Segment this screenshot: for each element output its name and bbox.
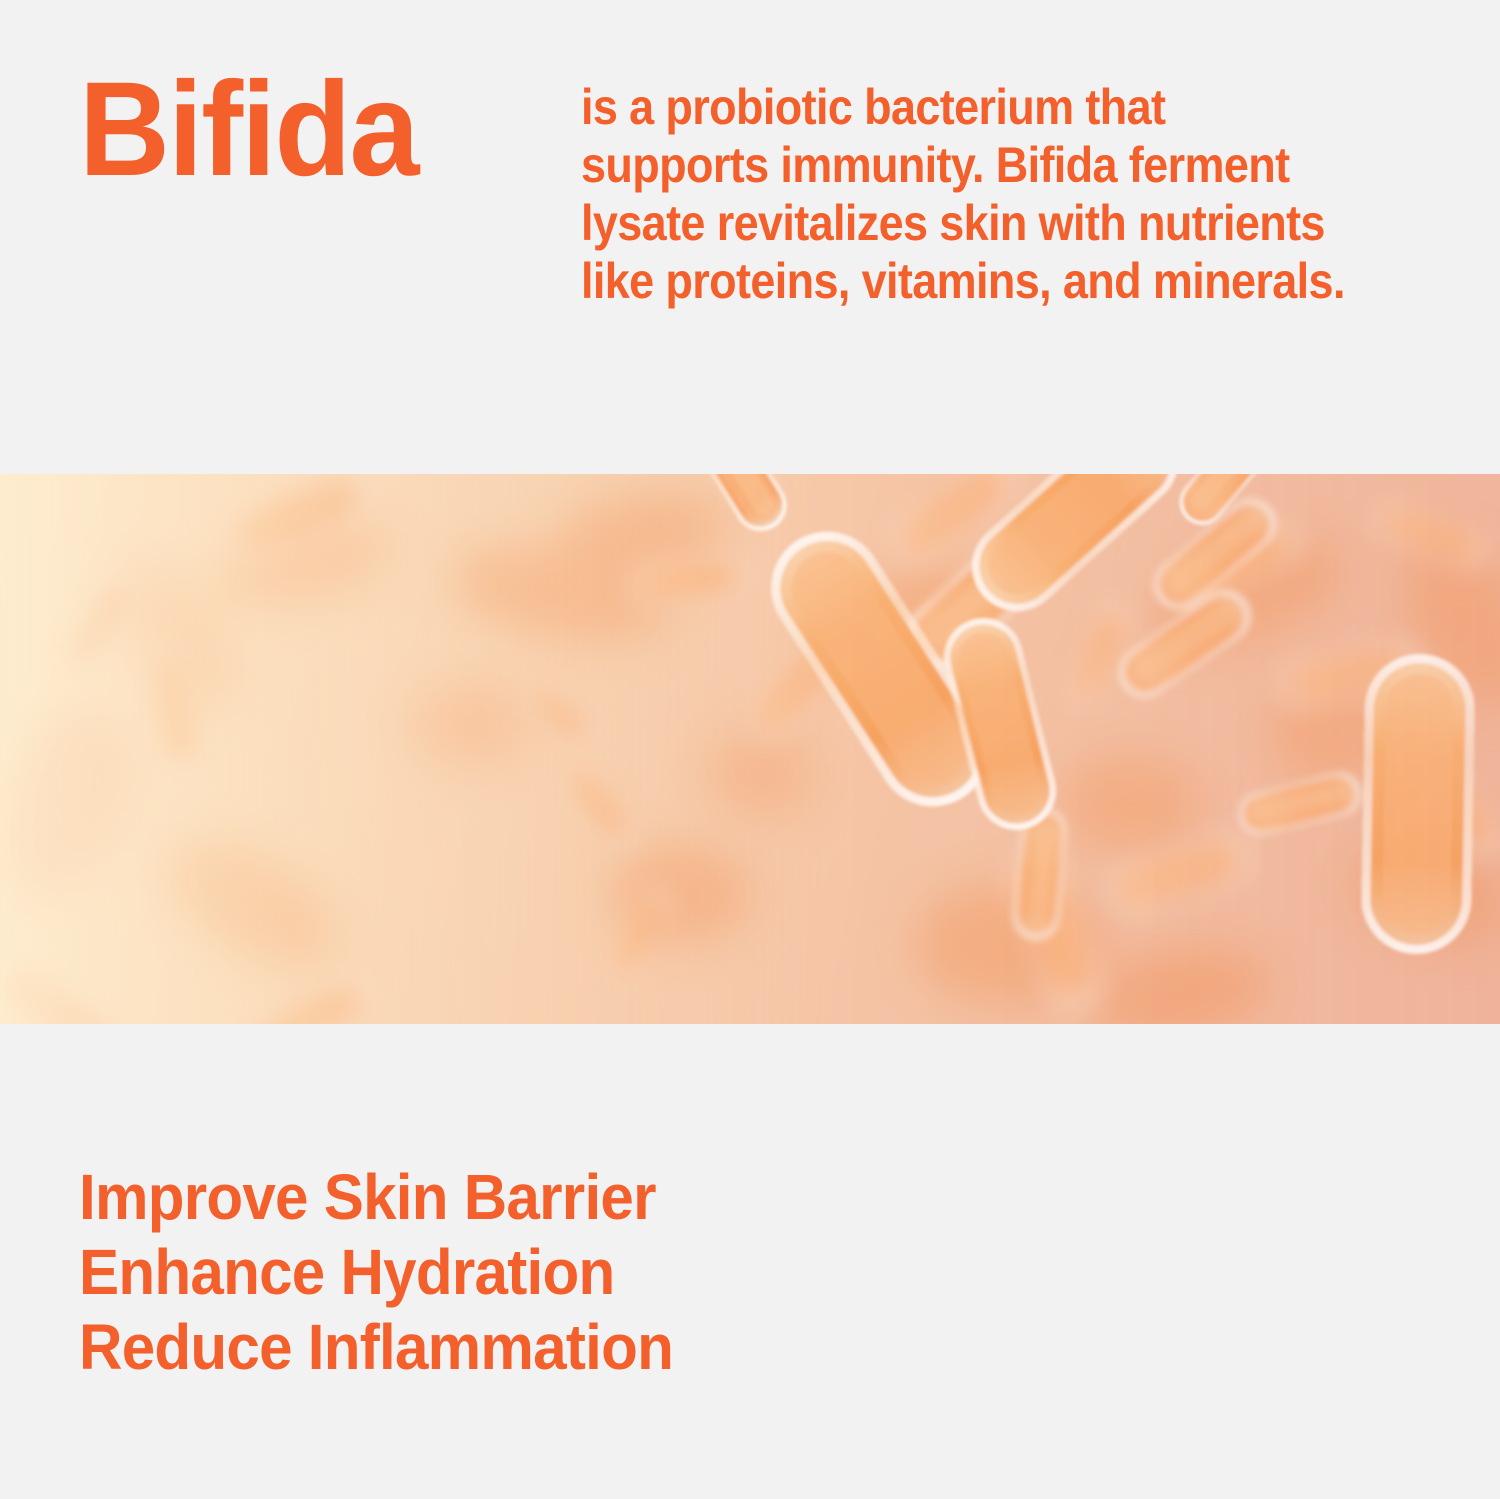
bacteria-photo-band <box>0 474 1500 1024</box>
benefit-item: Improve Skin Barrier <box>79 1160 673 1235</box>
page-title: Bifida <box>79 63 418 197</box>
ingredient-infographic-page: Bifida is a probiotic bacterium that sup… <box>0 0 1500 1499</box>
header-section: Bifida is a probiotic bacterium that sup… <box>0 0 1500 474</box>
benefit-item: Enhance Hydration <box>79 1235 673 1310</box>
ingredient-description: is a probiotic bacterium that supports i… <box>581 78 1355 310</box>
description-line: supports immunity. Bifida ferment <box>581 136 1355 194</box>
bacteria-rod-illustration <box>0 474 1500 1024</box>
benefit-item: Reduce Inflammation <box>79 1310 673 1385</box>
description-line: is a probiotic bacterium that <box>581 78 1355 136</box>
description-line: lysate revitalizes skin with nutrients <box>581 194 1355 252</box>
description-line: like proteins, vitamins, and minerals. <box>581 252 1355 310</box>
benefits-list: Improve Skin Barrier Enhance Hydration R… <box>79 1160 673 1385</box>
